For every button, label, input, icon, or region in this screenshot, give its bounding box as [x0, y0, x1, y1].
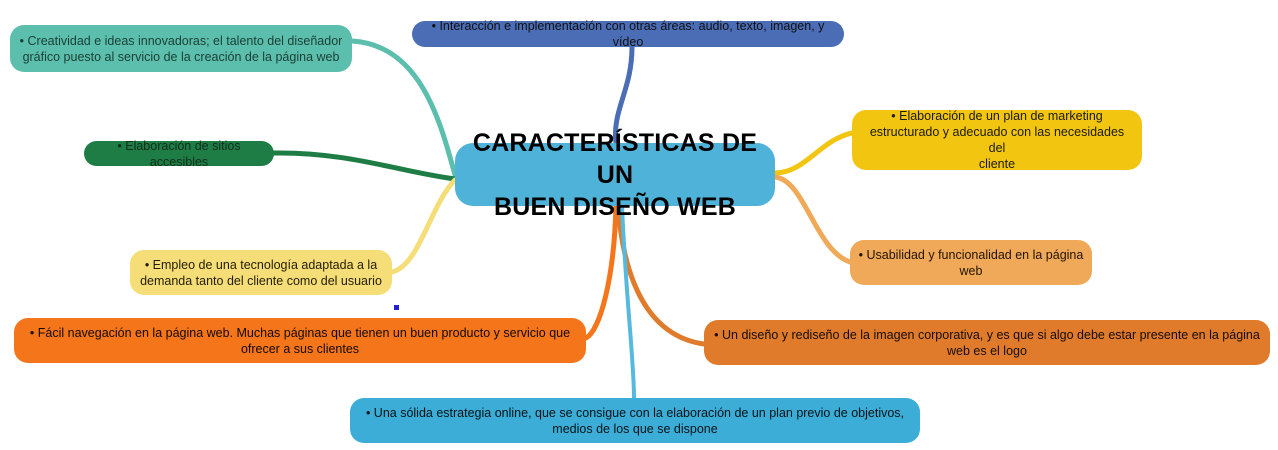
branch-node-corporativa[interactable]: • Un diseño y rediseño de la imagen corp…: [704, 320, 1270, 365]
branch-node-creatividad[interactable]: • Creatividad e ideas innovadoras; el ta…: [10, 25, 352, 72]
branch-node-label-corporativa: • Un diseño y rediseño de la imagen corp…: [704, 327, 1270, 359]
connector-creatividad: [352, 41, 455, 175]
branch-node-label-interaccion: • Interacción e implementación con otras…: [412, 18, 844, 50]
mindmap-canvas: CARACTERÍSTICAS DE UN BUEN DISEÑO WEB • …: [0, 0, 1278, 450]
branch-node-interaccion[interactable]: • Interacción e implementación con otras…: [412, 21, 844, 47]
branch-node-accesibles[interactable]: • Elaboración de sitios accesibles: [84, 141, 274, 166]
connector-usabilidad: [775, 177, 850, 262]
branch-node-label-marketing: • Elaboración de un plan de marketing es…: [852, 108, 1142, 172]
branch-node-estrategia[interactable]: • Una sólida estrategia online, que se c…: [350, 398, 920, 443]
connector-navegacion: [586, 206, 616, 338]
connector-marketing: [775, 133, 852, 173]
branch-node-label-tecnologia: • Empleo de una tecnología adaptada a la…: [130, 257, 392, 289]
central-topic-node[interactable]: CARACTERÍSTICAS DE UN BUEN DISEÑO WEB: [455, 143, 775, 206]
connector-accesibles: [274, 153, 455, 179]
central-topic-label: CARACTERÍSTICAS DE UN BUEN DISEÑO WEB: [455, 127, 775, 223]
branch-node-navegacion[interactable]: • Fácil navegación en la página web. Muc…: [14, 318, 586, 363]
branch-node-usabilidad[interactable]: • Usabilidad y funcionalidad en la págin…: [850, 240, 1092, 285]
branch-node-label-estrategia: • Una sólida estrategia online, que se c…: [350, 405, 920, 437]
branch-node-marketing[interactable]: • Elaboración de un plan de marketing es…: [852, 110, 1142, 170]
branch-node-label-usabilidad: • Usabilidad y funcionalidad en la págin…: [850, 247, 1092, 279]
branch-node-tecnologia[interactable]: • Empleo de una tecnología adaptada a la…: [130, 250, 392, 295]
stray-dot: [394, 305, 399, 310]
branch-node-label-creatividad: • Creatividad e ideas innovadoras; el ta…: [10, 33, 352, 65]
branch-node-label-navegacion: • Fácil navegación en la página web. Muc…: [14, 325, 586, 357]
branch-node-label-accesibles: • Elaboración de sitios accesibles: [84, 138, 274, 170]
connector-tecnologia: [392, 180, 455, 272]
connector-estrategia: [622, 206, 634, 398]
